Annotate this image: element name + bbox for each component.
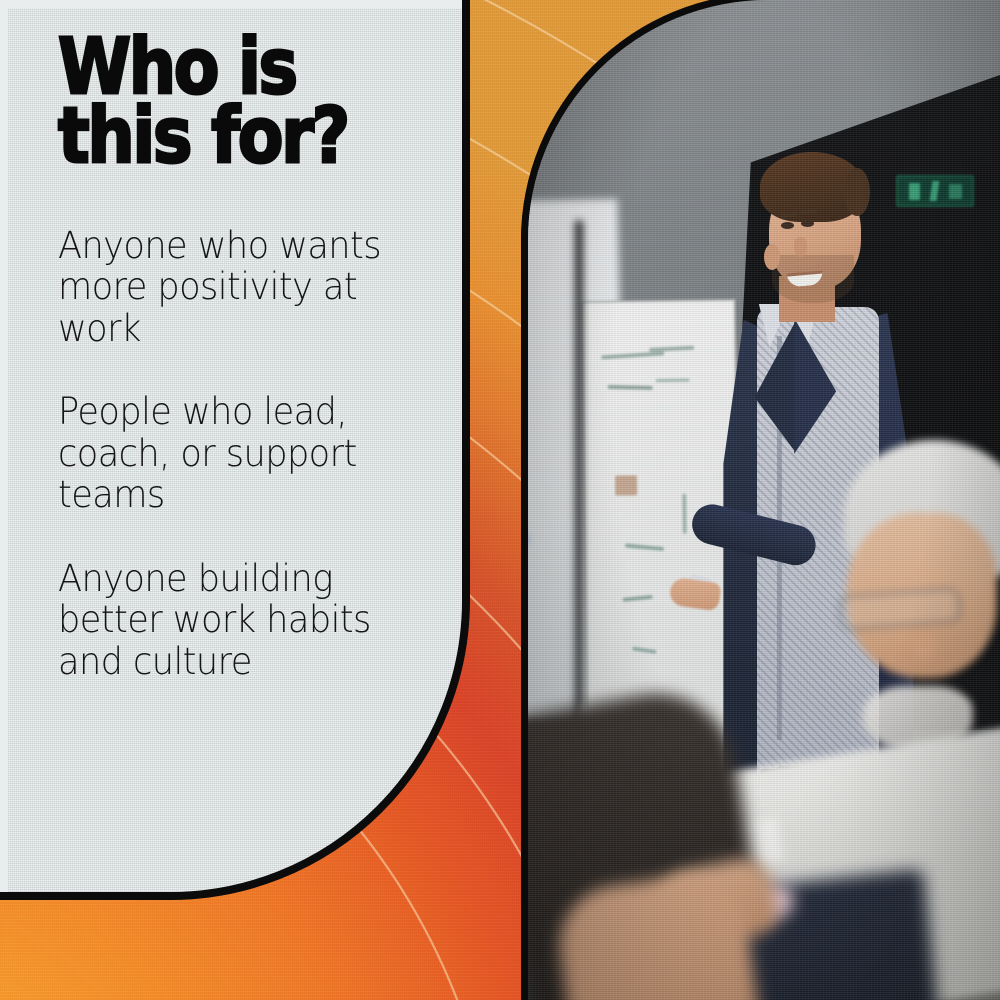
audience-list: Anyone who wants more positivity at work…	[58, 225, 450, 682]
elder-nose	[911, 625, 937, 659]
eye-right	[801, 220, 814, 227]
list-item: Anyone building better work habits and c…	[58, 558, 430, 682]
list-item: Anyone who wants more positivity at work	[58, 225, 430, 349]
poster-canvas: Who isthis for? Anyone who wants more po…	[0, 0, 1000, 1000]
presenter-photo-panel	[528, 0, 1000, 1000]
page-title: Who isthis for?	[58, 34, 385, 171]
card-inner: Who isthis for? Anyone who wants more po…	[8, 8, 462, 892]
content-card: Who isthis for? Anyone who wants more po…	[0, 0, 470, 900]
photo-image	[528, 0, 1000, 1000]
list-item: People who lead, coach, or support teams	[58, 391, 430, 515]
